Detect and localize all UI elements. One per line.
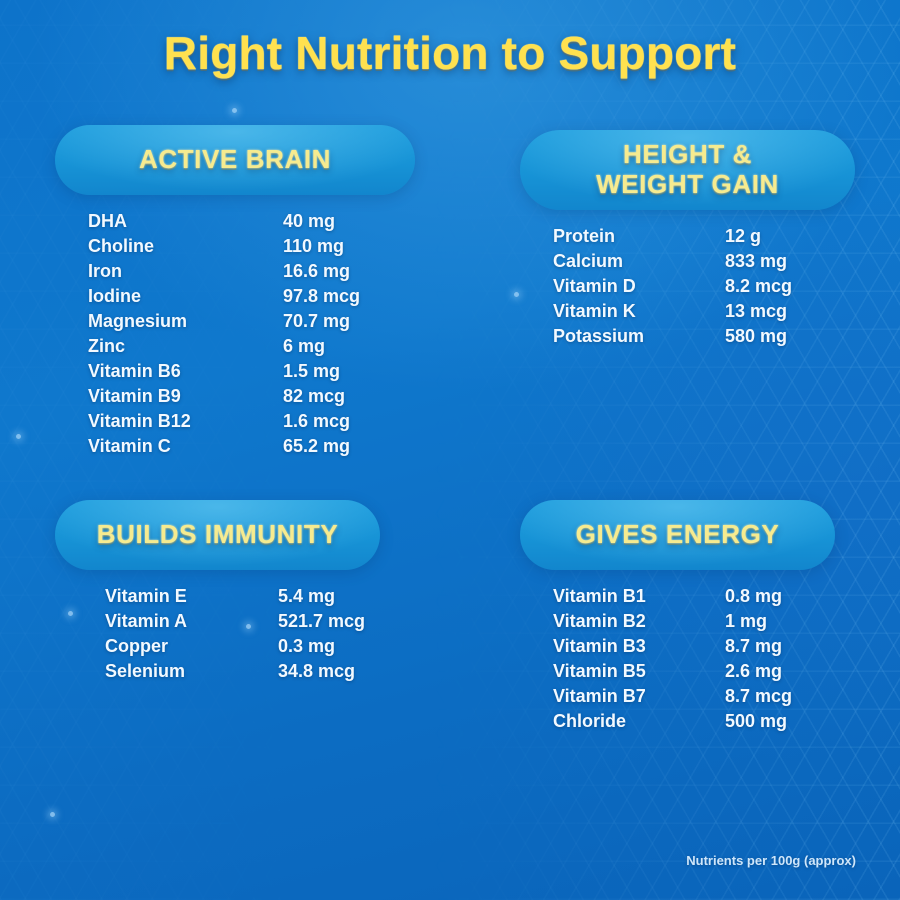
nutrient-amount: 521.7 mcg: [278, 609, 365, 634]
nutrient-name: Vitamin B6: [88, 359, 283, 384]
nutrient-row: Vitamin B2 1 mg: [553, 609, 835, 634]
nutrient-name: Vitamin B12: [88, 409, 283, 434]
nutrient-name: Iodine: [88, 284, 283, 309]
panel-heading-gives-energy: GIVES ENERGY: [520, 500, 835, 570]
nutrient-name: Vitamin B2: [553, 609, 725, 634]
nutrient-row: Vitamin B3 8.7 mg: [553, 634, 835, 659]
panel-heading-active-brain: ACTIVE BRAIN: [55, 125, 415, 195]
nutrient-amount: 97.8 mcg: [283, 284, 360, 309]
nutrient-amount: 1.5 mg: [283, 359, 340, 384]
nutrient-amount: 13 mcg: [725, 299, 787, 324]
panel-heading-label: BUILDS IMMUNITY: [97, 520, 339, 550]
nutrient-row: Choline 110 mg: [88, 234, 415, 259]
nutrient-amount: 16.6 mg: [283, 259, 350, 284]
nutrient-amount: 82 mcg: [283, 384, 345, 409]
nutrient-name: Selenium: [105, 659, 278, 684]
panel-active-brain: ACTIVE BRAIN DHA 40 mg Choline 110 mg Ir…: [55, 125, 415, 459]
nutrient-amount: 6 mg: [283, 334, 325, 359]
nutrient-name: Vitamin B1: [553, 584, 725, 609]
sparkle-icon: [514, 292, 519, 297]
panel-heading-builds-immunity: BUILDS IMMUNITY: [55, 500, 380, 570]
nutrient-row: Vitamin B9 82 mcg: [88, 384, 415, 409]
nutrient-name: Calcium: [553, 249, 725, 274]
nutrient-amount: 500 mg: [725, 709, 787, 734]
panel-gives-energy: GIVES ENERGY Vitamin B1 0.8 mg Vitamin B…: [520, 500, 835, 734]
nutrient-list-builds-immunity: Vitamin E 5.4 mg Vitamin A 521.7 mcg Cop…: [55, 584, 380, 684]
nutrient-amount: 0.3 mg: [278, 634, 335, 659]
nutrient-row: Vitamin D 8.2 mcg: [553, 274, 855, 299]
nutrient-name: Zinc: [88, 334, 283, 359]
nutrient-row: Protein 12 g: [553, 224, 855, 249]
nutrient-name: Vitamin C: [88, 434, 283, 459]
nutrient-name: Vitamin B3: [553, 634, 725, 659]
nutrient-name: Vitamin B9: [88, 384, 283, 409]
nutrient-row: Potassium 580 mg: [553, 324, 855, 349]
page-title: Right Nutrition to Support: [0, 26, 900, 80]
nutrient-row: Selenium 34.8 mcg: [105, 659, 380, 684]
nutrient-row: Vitamin B1 0.8 mg: [553, 584, 835, 609]
sparkle-icon: [50, 812, 55, 817]
nutrient-amount: 833 mg: [725, 249, 787, 274]
nutrient-name: Magnesium: [88, 309, 283, 334]
nutrient-row: Zinc 6 mg: [88, 334, 415, 359]
nutrient-list-height-weight-gain: Protein 12 g Calcium 833 mg Vitamin D 8.…: [520, 224, 855, 349]
nutrient-row: Vitamin B12 1.6 mcg: [88, 409, 415, 434]
nutrient-amount: 0.8 mg: [725, 584, 782, 609]
nutrient-list-active-brain: DHA 40 mg Choline 110 mg Iron 16.6 mg Io…: [55, 209, 415, 459]
nutrient-name: Potassium: [553, 324, 725, 349]
panel-heading-line1: HEIGHT &: [623, 139, 752, 169]
panel-heading-height-weight-gain: HEIGHT & WEIGHT GAIN: [520, 130, 855, 210]
nutrient-name: DHA: [88, 209, 283, 234]
nutrient-amount: 8.7 mcg: [725, 684, 792, 709]
nutrient-row: Calcium 833 mg: [553, 249, 855, 274]
nutrient-amount: 1 mg: [725, 609, 767, 634]
nutrient-name: Vitamin A: [105, 609, 278, 634]
nutrient-row: DHA 40 mg: [88, 209, 415, 234]
nutrient-row: Magnesium 70.7 mg: [88, 309, 415, 334]
nutrition-infographic: Right Nutrition to Support ACTIVE BRAIN …: [0, 0, 900, 900]
footnote: Nutrients per 100g (approx): [686, 853, 856, 868]
nutrient-row: Iodine 97.8 mcg: [88, 284, 415, 309]
panel-height-weight-gain: HEIGHT & WEIGHT GAIN Protein 12 g Calciu…: [520, 130, 855, 349]
nutrient-name: Vitamin B5: [553, 659, 725, 684]
nutrient-row: Vitamin B5 2.6 mg: [553, 659, 835, 684]
nutrient-amount: 8.7 mg: [725, 634, 782, 659]
nutrient-amount: 34.8 mcg: [278, 659, 355, 684]
nutrient-name: Choline: [88, 234, 283, 259]
nutrient-amount: 40 mg: [283, 209, 335, 234]
sparkle-icon: [16, 434, 21, 439]
nutrient-amount: 12 g: [725, 224, 761, 249]
nutrient-name: Vitamin D: [553, 274, 725, 299]
panel-heading-line2: WEIGHT GAIN: [596, 169, 779, 199]
nutrient-amount: 2.6 mg: [725, 659, 782, 684]
nutrient-name: Iron: [88, 259, 283, 284]
nutrient-list-gives-energy: Vitamin B1 0.8 mg Vitamin B2 1 mg Vitami…: [520, 584, 835, 734]
panel-heading-label: HEIGHT & WEIGHT GAIN: [596, 140, 779, 199]
nutrient-row: Vitamin K 13 mcg: [553, 299, 855, 324]
nutrient-amount: 580 mg: [725, 324, 787, 349]
nutrient-name: Copper: [105, 634, 278, 659]
panel-heading-label: GIVES ENERGY: [576, 520, 780, 550]
panel-heading-label: ACTIVE BRAIN: [139, 145, 331, 175]
panel-builds-immunity: BUILDS IMMUNITY Vitamin E 5.4 mg Vitamin…: [55, 500, 380, 684]
nutrient-name: Vitamin E: [105, 584, 278, 609]
nutrient-name: Chloride: [553, 709, 725, 734]
nutrient-row: Copper 0.3 mg: [105, 634, 380, 659]
nutrient-amount: 65.2 mg: [283, 434, 350, 459]
nutrient-row: Vitamin C 65.2 mg: [88, 434, 415, 459]
nutrient-row: Chloride 500 mg: [553, 709, 835, 734]
nutrient-row: Vitamin E 5.4 mg: [105, 584, 380, 609]
nutrient-amount: 5.4 mg: [278, 584, 335, 609]
nutrient-amount: 70.7 mg: [283, 309, 350, 334]
nutrient-name: Vitamin K: [553, 299, 725, 324]
nutrient-amount: 8.2 mcg: [725, 274, 792, 299]
nutrient-row: Vitamin A 521.7 mcg: [105, 609, 380, 634]
nutrient-row: Vitamin B6 1.5 mg: [88, 359, 415, 384]
nutrient-name: Vitamin B7: [553, 684, 725, 709]
nutrient-name: Protein: [553, 224, 725, 249]
nutrient-row: Iron 16.6 mg: [88, 259, 415, 284]
nutrient-amount: 1.6 mcg: [283, 409, 350, 434]
nutrient-amount: 110 mg: [283, 234, 344, 259]
sparkle-icon: [232, 108, 237, 113]
nutrient-row: Vitamin B7 8.7 mcg: [553, 684, 835, 709]
